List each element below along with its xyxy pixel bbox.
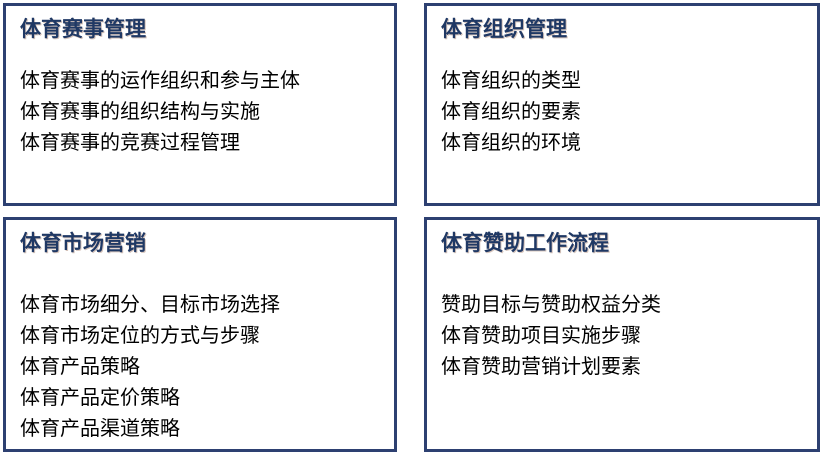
list-item: 体育赞助营销计划要素: [441, 352, 809, 383]
panel-title: 体育赞助工作流程: [441, 231, 609, 256]
slide-canvas: 体育赛事管理 体育赛事的运作组织和参与主体 体育赛事的组织结构与实施 体育赛事的…: [0, 0, 823, 456]
panel-title: 体育赛事管理: [20, 17, 146, 42]
list-item: 体育赛事的组织结构与实施: [20, 97, 386, 128]
list-item: 体育组织的类型: [441, 66, 809, 97]
list-item: 体育市场细分、目标市场选择: [20, 290, 386, 321]
list-item: 体育组织的要素: [441, 97, 809, 128]
list-item: 体育产品渠道策略: [20, 414, 386, 445]
list-item: 体育赛事的竞赛过程管理: [20, 128, 386, 159]
panel-line-list: 体育组织的类型 体育组织的要素 体育组织的环境: [441, 66, 809, 159]
list-item: 体育市场定位的方式与步骤: [20, 321, 386, 352]
panel-sports-sponsorship-workflow[interactable]: 体育赞助工作流程 赞助目标与赞助权益分类 体育赞助项目实施步骤 体育赞助营销计划…: [424, 217, 820, 452]
panel-title: 体育市场营销: [20, 231, 146, 256]
panel-line-list: 体育赛事的运作组织和参与主体 体育赛事的组织结构与实施 体育赛事的竞赛过程管理: [20, 66, 386, 159]
list-item: 体育产品策略: [20, 352, 386, 383]
list-item: 体育产品定价策略: [20, 383, 386, 414]
panel-line-list: 赞助目标与赞助权益分类 体育赞助项目实施步骤 体育赞助营销计划要素: [441, 290, 809, 383]
panel-title: 体育组织管理: [441, 17, 567, 42]
panel-sports-organization-management[interactable]: 体育组织管理 体育组织的类型 体育组织的要素 体育组织的环境: [424, 3, 820, 206]
list-item: 赞助目标与赞助权益分类: [441, 290, 809, 321]
panel-sports-event-management[interactable]: 体育赛事管理 体育赛事的运作组织和参与主体 体育赛事的组织结构与实施 体育赛事的…: [3, 3, 397, 206]
panel-sports-marketing[interactable]: 体育市场营销 体育市场细分、目标市场选择 体育市场定位的方式与步骤 体育产品策略…: [3, 217, 397, 452]
list-item: 体育赛事的运作组织和参与主体: [20, 66, 386, 97]
list-item: 体育赞助项目实施步骤: [441, 321, 809, 352]
panel-line-list: 体育市场细分、目标市场选择 体育市场定位的方式与步骤 体育产品策略 体育产品定价…: [20, 290, 386, 445]
list-item: 体育组织的环境: [441, 128, 809, 159]
